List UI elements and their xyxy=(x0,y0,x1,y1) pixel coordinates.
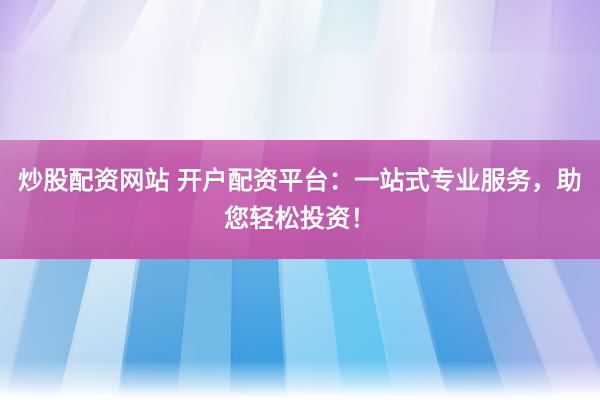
headline-container: 炒股配资网站 开户配资平台：一站式专业服务，助您轻松投资！ xyxy=(0,140,600,259)
background-top-banding xyxy=(0,0,600,142)
banner-headline: 炒股配资网站 开户配资平台：一站式专业服务，助您轻松投资！ xyxy=(6,162,594,238)
promo-banner: 炒股配资网站 开户配资平台：一站式专业服务，助您轻松投资！ xyxy=(0,0,600,400)
background-bottom-fade xyxy=(0,258,600,400)
